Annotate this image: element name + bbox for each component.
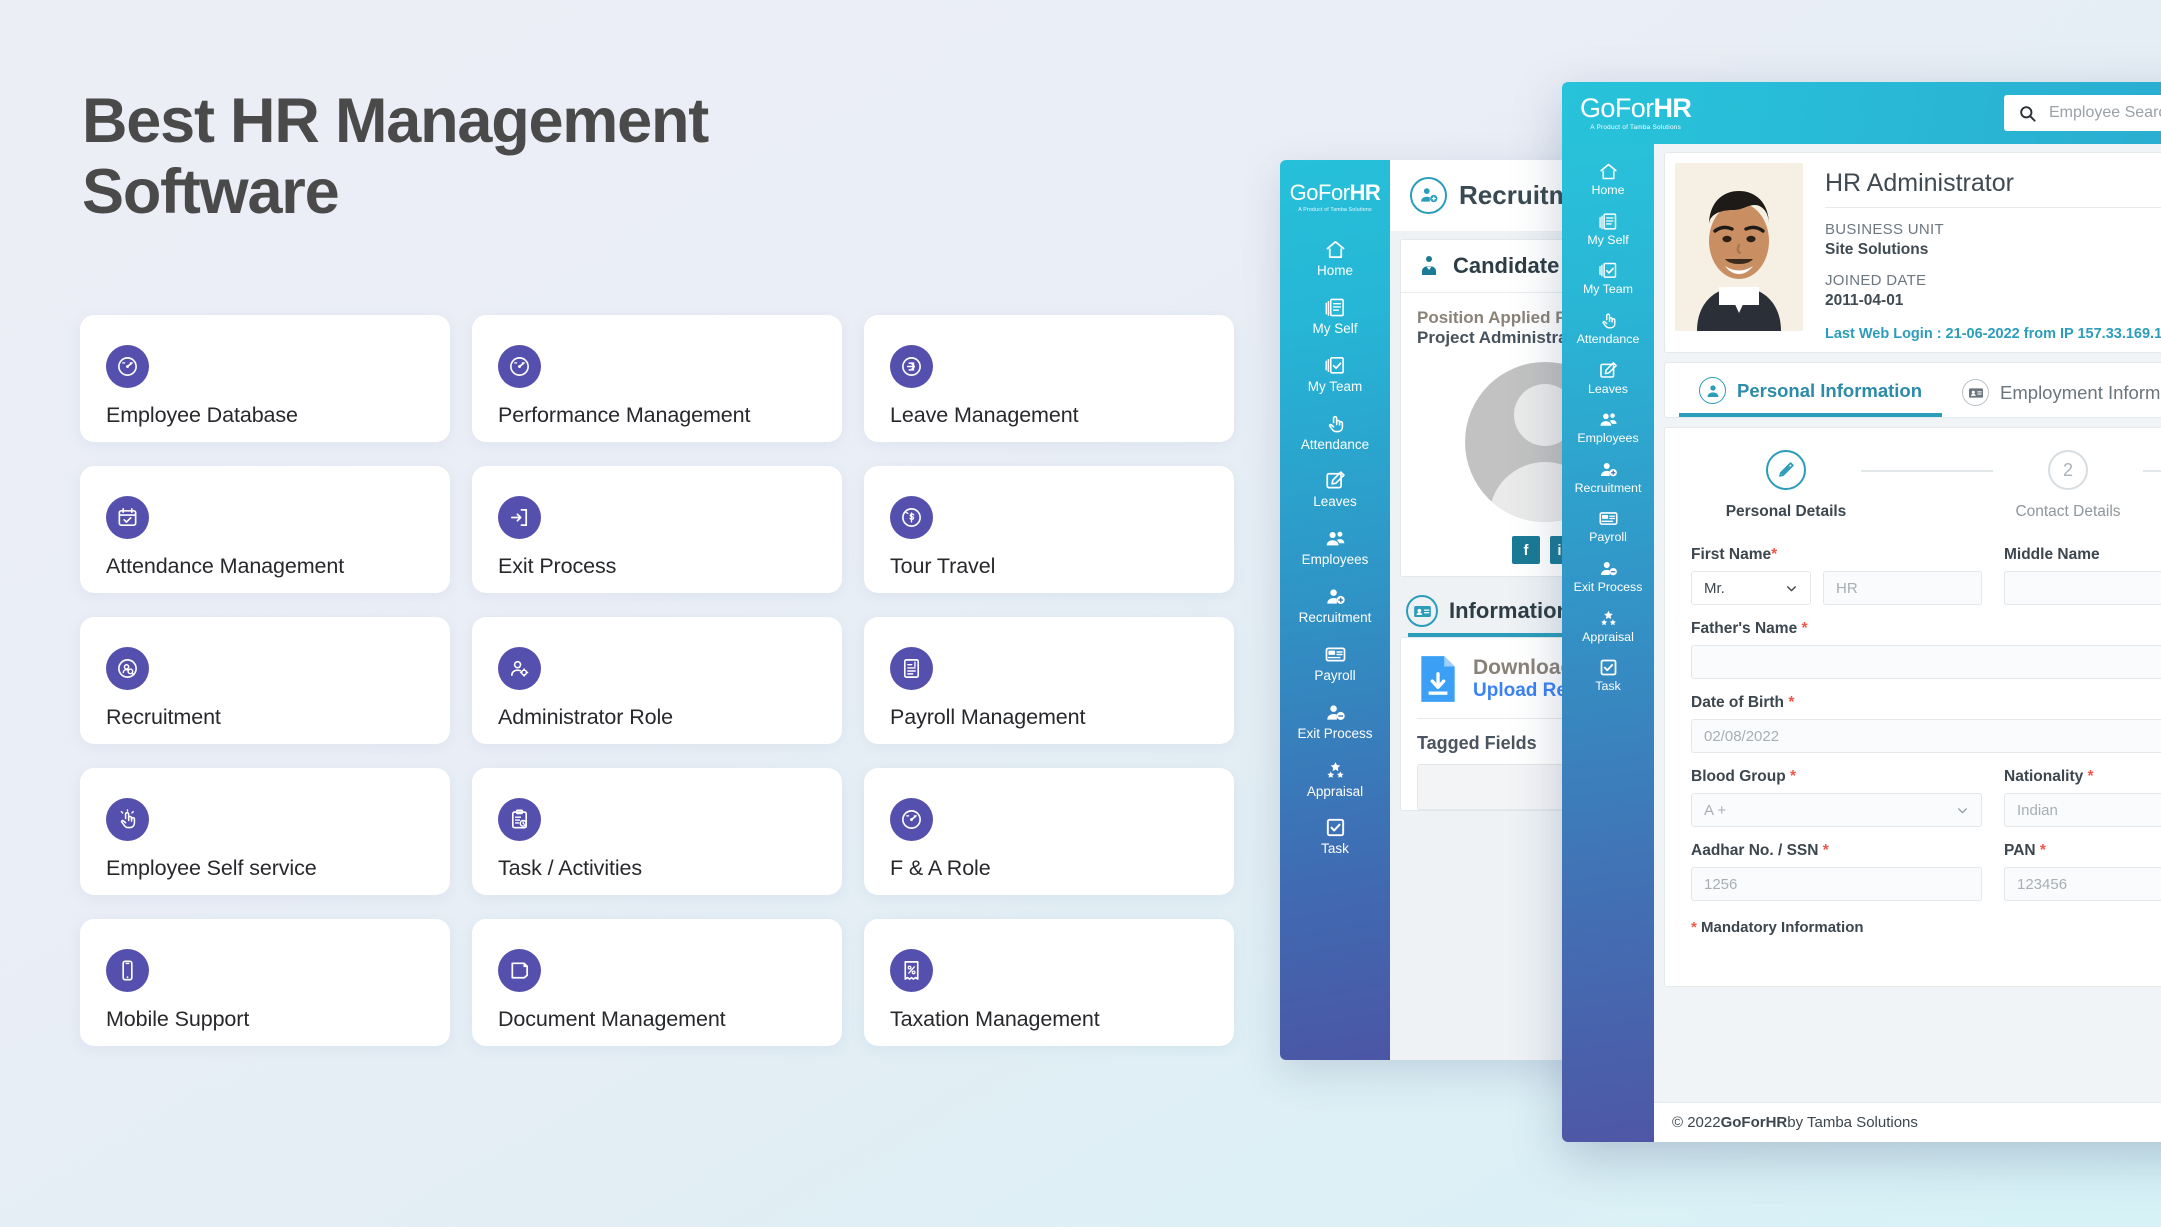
nationality-group: Nationality * Indian: [2004, 768, 2161, 827]
dob-input[interactable]: 02/08/2022: [1691, 719, 2161, 753]
hand-tap-icon: [1598, 310, 1619, 331]
pan-label: PAN *: [2004, 842, 2161, 860]
app-top-bar: GoForHR A Product of Tamba Solutions Emp…: [1562, 82, 2161, 144]
sidebar-item-my-self[interactable]: My Self: [1562, 204, 1654, 254]
sidebar-item-my-team[interactable]: My Team: [1562, 253, 1654, 303]
joined-date-label: JOINED DATE: [1825, 272, 2161, 289]
pan-input[interactable]: 123456: [2004, 867, 2161, 901]
feature-card[interactable]: Employee Self service: [80, 768, 450, 895]
gauge-icon: [900, 808, 923, 831]
aadhar-label: Aadhar No. / SSN *: [1691, 842, 1982, 860]
sidebar-item-label: My Team: [1564, 283, 1652, 297]
sidebar-item-task[interactable]: Task: [1280, 807, 1390, 865]
front-brand-logo: GoForHR A Product of Tamba Solutions: [1580, 95, 1691, 131]
id-card-icon: [1406, 595, 1438, 627]
card-icon: [1324, 643, 1347, 666]
people-icon: [1598, 409, 1619, 430]
first-name-input[interactable]: HR: [1823, 571, 1982, 605]
document-fold-icon: [508, 959, 531, 982]
form-row-ids: Aadhar No. / SSN * 1256 PAN * 123456: [1691, 842, 2161, 901]
aadhar-group: Aadhar No. / SSN * 1256: [1691, 842, 1982, 901]
sidebar-item-label: Appraisal: [1564, 631, 1652, 645]
gauge-icon: [508, 355, 531, 378]
calendar-check-icon: [116, 506, 139, 529]
feature-card-label: Tour Travel: [890, 554, 1208, 579]
dob-value: 02/08/2022: [1704, 728, 1779, 745]
user-plus-icon: [1410, 177, 1447, 214]
blood-group-group: Blood Group * A +: [1691, 768, 1982, 827]
footer-copyright: © 2022: [1672, 1114, 1721, 1131]
feature-card[interactable]: Payroll Management: [864, 617, 1234, 744]
people-icon: [1324, 527, 1347, 550]
nationality-value: Indian: [2017, 802, 2058, 819]
nationality-label: Nationality *: [2004, 768, 2161, 786]
feature-card-icon-wrap: [890, 647, 933, 690]
feature-card-label: Task / Activities: [498, 856, 816, 881]
feature-card[interactable]: Administrator Role: [472, 617, 842, 744]
feature-card[interactable]: Attendance Management: [80, 466, 450, 593]
feature-card-icon-wrap: [498, 647, 541, 690]
gauge-icon: [116, 355, 139, 378]
sidebar-item-my-team[interactable]: My Team: [1280, 345, 1390, 403]
feature-card[interactable]: Taxation Management: [864, 919, 1234, 1046]
feature-card-label: Taxation Management: [890, 1007, 1208, 1032]
middle-name-label: Middle Name: [2004, 546, 2161, 564]
title-select-value: Mr.: [1704, 580, 1725, 597]
feature-card-icon-wrap: [106, 345, 149, 388]
first-name-placeholder: HR: [1836, 580, 1858, 597]
feature-card-icon-wrap: [498, 949, 541, 992]
sidebar-item-label: Payroll: [1564, 531, 1652, 545]
feature-card-icon-wrap: [890, 496, 933, 539]
sidebar-item-employees[interactable]: Employees: [1562, 402, 1654, 452]
blood-group-label: Blood Group *: [1691, 768, 1982, 786]
feature-card[interactable]: Recruitment: [80, 617, 450, 744]
feature-card-label: Exit Process: [498, 554, 816, 579]
user-plus-icon: [1324, 585, 1347, 608]
search-input[interactable]: Employee Search: [2004, 95, 2161, 131]
brand-light: GoFor: [1580, 93, 1654, 123]
pencil-icon: [1766, 450, 1806, 490]
user-minus-icon: [1324, 701, 1347, 724]
tab-employment-information-label: Employment Information: [2000, 382, 2161, 404]
team-check-icon: [1598, 260, 1619, 281]
business-unit-value: Site Solutions: [1825, 241, 2161, 259]
feature-card-icon-wrap: [106, 949, 149, 992]
user-minus-icon: [1598, 558, 1619, 579]
feature-card-label: Employee Database: [106, 403, 424, 428]
profile-details: HR Administrator BUSINESS UNIT Site Solu…: [1825, 163, 2161, 342]
sidebar-item-label: Exit Process: [1564, 581, 1652, 595]
edit-note-icon: [1324, 469, 1347, 492]
user-plus-icon: [1598, 459, 1619, 480]
sidebar-item-label: My Team: [1282, 380, 1388, 395]
step-personal-details-label: Personal Details: [1711, 503, 1861, 521]
feature-card-icon-wrap: [106, 496, 149, 539]
sidebar-item-employees[interactable]: Employees: [1280, 518, 1390, 576]
sidebar-item-recruitment[interactable]: Recruitment: [1280, 576, 1390, 634]
home-icon: [1324, 238, 1347, 261]
hand-tap-icon: [1324, 412, 1347, 435]
profile-name: HR Administrator: [1825, 169, 2161, 208]
feature-card-label: F & A Role: [890, 856, 1208, 881]
step-personal-details[interactable]: Personal Details: [1711, 450, 1861, 521]
mid-sidebar: GoForHR A Product of Tamba Solutions Hom…: [1280, 160, 1390, 1060]
sidebar-item-label: Recruitment: [1564, 482, 1652, 496]
blood-group-select[interactable]: A +: [1691, 793, 1982, 827]
checkbox-icon: [1324, 816, 1347, 839]
feature-card-label: Performance Management: [498, 403, 816, 428]
pan-value: 123456: [2017, 876, 2067, 893]
fathers-name-label: Father's Name *: [1691, 620, 2161, 638]
feature-card-icon-wrap: [498, 798, 541, 841]
sidebar-item-label: Task: [1282, 842, 1388, 857]
documents-icon: [1324, 296, 1347, 319]
sidebar-item-label: Exit Process: [1282, 727, 1388, 742]
middle-name-group: Middle Name: [2004, 546, 2161, 605]
dob-group: Date of Birth * 02/08/2022: [1691, 694, 2161, 753]
personal-details-form: Personal Details 2 Contact Details First…: [1664, 427, 2161, 987]
feature-card-icon-wrap: [106, 798, 149, 841]
feature-card[interactable]: Employee Database: [80, 315, 450, 442]
feature-card-label: Administrator Role: [498, 705, 816, 730]
sidebar-item-label: Recruitment: [1282, 611, 1388, 626]
front-content: HR Administrator BUSINESS UNIT Site Solu…: [1654, 144, 2161, 1142]
stars-icon: [1324, 759, 1347, 782]
sidebar-item-label: Leaves: [1564, 383, 1652, 397]
clipboard-clock-icon: [508, 808, 531, 831]
feature-card[interactable]: Task / Activities: [472, 768, 842, 895]
step-contact-details[interactable]: 2 Contact Details: [1993, 450, 2143, 521]
feature-card-label: Employee Self service: [106, 856, 424, 881]
feature-card[interactable]: Exit Process: [472, 466, 842, 593]
feature-card[interactable]: Tour Travel: [864, 466, 1234, 593]
aadhar-value: 1256: [1704, 876, 1737, 893]
sidebar-item-appraisal[interactable]: Appraisal: [1280, 750, 1390, 808]
edit-note-icon: [1598, 360, 1619, 381]
title-select[interactable]: Mr.: [1691, 571, 1811, 605]
form-row-name: First Name* Mr. HR Middle Name: [1691, 546, 2161, 605]
feature-card-icon-wrap: [890, 345, 933, 388]
home-icon: [1598, 161, 1619, 182]
fathers-name-input[interactable]: [1691, 645, 2161, 679]
nationality-select[interactable]: Indian: [2004, 793, 2161, 827]
brand-tagline: A Product of Tamba Solutions: [1580, 124, 1691, 131]
feature-card-icon-wrap: [498, 345, 541, 388]
download-document-icon: [1417, 654, 1459, 704]
last-web-login: Last Web Login : 21-06-2022 from IP 157.…: [1825, 326, 2161, 342]
id-card-icon: [1962, 379, 1989, 406]
percent-receipt-icon: [900, 959, 923, 982]
sidebar-item-label: Employees: [1564, 432, 1652, 446]
feature-card[interactable]: F & A Role: [864, 768, 1234, 895]
sidebar-item-home[interactable]: Home: [1280, 229, 1390, 287]
feature-card-label: Payroll Management: [890, 705, 1208, 730]
sidebar-item-attendance[interactable]: Attendance: [1562, 303, 1654, 353]
sidebar-item-leaves[interactable]: Leaves: [1562, 353, 1654, 403]
tab-personal-information[interactable]: Personal Information: [1679, 372, 1942, 417]
profile-summary-card: HR Administrator BUSINESS UNIT Site Solu…: [1664, 152, 2161, 353]
footer-brand: GoForHR: [1721, 1114, 1788, 1131]
step-contact-details-label: Contact Details: [1993, 503, 2143, 521]
avatar: [1675, 163, 1803, 331]
team-check-icon: [1324, 354, 1347, 377]
sidebar-item-label: Attendance: [1282, 438, 1388, 453]
feature-card-label: Mobile Support: [106, 1007, 424, 1032]
sidebar-item-task[interactable]: Task: [1562, 650, 1654, 700]
mandatory-note: * Mandatory Information: [1691, 919, 2161, 936]
search-icon: [2018, 104, 2037, 123]
candidate-card-title: Candidate: [1453, 253, 1559, 279]
blood-group-value: A +: [1704, 802, 1726, 819]
chevron-down-icon: [1956, 804, 1969, 817]
form-stepper: Personal Details 2 Contact Details: [1691, 450, 2161, 531]
step-contact-details-number: 2: [2048, 450, 2088, 490]
first-name-label: First Name*: [1691, 546, 1982, 564]
sidebar-item-attendance[interactable]: Attendance: [1280, 403, 1390, 461]
feature-card-icon-wrap: [498, 496, 541, 539]
feature-card[interactable]: Mobile Support: [80, 919, 450, 1046]
feature-card-label: Attendance Management: [106, 554, 424, 579]
sidebar-item-label: My Self: [1564, 234, 1652, 248]
feature-card[interactable]: Leave Management: [864, 315, 1234, 442]
hand-click-icon: [116, 808, 139, 831]
sidebar-item-label: Leaves: [1282, 495, 1388, 510]
logout-arrow-icon: [900, 355, 923, 378]
sidebar-item-label: Employees: [1282, 553, 1388, 568]
documents-icon: [1598, 211, 1619, 232]
information-tab-label: Information: [1449, 598, 1570, 624]
stepper-connector: [2143, 470, 2161, 472]
exit-door-icon: [508, 506, 531, 529]
sidebar-item-label: Home: [1564, 184, 1652, 198]
feature-card[interactable]: Performance Management: [472, 315, 842, 442]
business-unit-label: BUSINESS UNIT: [1825, 221, 2161, 238]
sidebar-item-appraisal[interactable]: Appraisal: [1562, 601, 1654, 651]
feature-card-icon-wrap: [890, 798, 933, 841]
sidebar-item-recruitment[interactable]: Recruitment: [1562, 452, 1654, 502]
middle-name-input[interactable]: [2004, 571, 2161, 605]
checkbox-icon: [1598, 657, 1619, 678]
brand-light: GoFor: [1290, 180, 1350, 205]
aadhar-input[interactable]: 1256: [1691, 867, 1982, 901]
sidebar-item-payroll[interactable]: Payroll: [1562, 501, 1654, 551]
form-row-dob: Date of Birth * 02/08/2022: [1691, 694, 2161, 753]
tab-employment-information[interactable]: Employment Information: [1942, 374, 2161, 415]
page-title: Best HR Management Software: [82, 86, 1082, 228]
brand-bold: HR: [1350, 180, 1381, 205]
employee-profile-app-panel: GoForHR A Product of Tamba Solutions Emp…: [1562, 82, 2161, 1142]
sidebar-item-leaves[interactable]: Leaves: [1280, 460, 1390, 518]
dob-label: Date of Birth *: [1691, 694, 2161, 712]
search-placeholder: Employee Search: [2049, 104, 2161, 122]
sidebar-item-label: Payroll: [1282, 669, 1388, 684]
footer-by: by Tamba Solutions: [1787, 1114, 1918, 1131]
feature-card-grid: Employee DatabasePerformance ManagementL…: [80, 315, 1240, 1046]
sidebar-item-my-self[interactable]: My Self: [1280, 287, 1390, 345]
brand-tagline: A Product of Tamba Solutions: [1280, 207, 1390, 213]
sidebar-item-label: Task: [1564, 680, 1652, 694]
tab-personal-information-label: Personal Information: [1737, 380, 1922, 402]
sidebar-item-label: Appraisal: [1282, 785, 1388, 800]
feature-card-label: Document Management: [498, 1007, 816, 1032]
page-title-line2: Software: [82, 157, 1082, 228]
sidebar-item-payroll[interactable]: Payroll: [1280, 634, 1390, 692]
sidebar-item-home[interactable]: Home: [1562, 154, 1654, 204]
user-search-icon: [116, 657, 139, 680]
hero-section: Best HR Management Software: [82, 86, 1082, 228]
candidate-icon: [1417, 254, 1441, 278]
stars-icon: [1598, 608, 1619, 629]
sidebar-item-exit-process[interactable]: Exit Process: [1280, 692, 1390, 750]
feature-card-icon-wrap: [890, 949, 933, 992]
chevron-down-icon: [1785, 582, 1798, 595]
joined-date-value: 2011-04-01: [1825, 292, 2161, 310]
profile-tabs: Personal Information Employment Informat…: [1664, 362, 2161, 418]
person-icon: [1699, 377, 1726, 404]
sidebar-item-label: Attendance: [1564, 333, 1652, 347]
stepper-connector: [1861, 470, 1993, 472]
feature-card-label: Recruitment: [106, 705, 424, 730]
sidebar-item-exit-process[interactable]: Exit Process: [1562, 551, 1654, 601]
sidebar-item-label: My Self: [1282, 322, 1388, 337]
payslip-icon: [900, 657, 923, 680]
sidebar-item-label: Home: [1282, 264, 1388, 279]
user-gear-icon: [508, 657, 531, 680]
front-sidebar: HomeMy SelfMy TeamAttendanceLeavesEmploy…: [1562, 144, 1654, 1142]
brand-bold: HR: [1654, 93, 1692, 123]
travel-money-icon: [900, 506, 923, 529]
fathers-name-group: Father's Name *: [1691, 620, 2161, 679]
mid-brand-logo: GoForHR A Product of Tamba Solutions: [1280, 174, 1390, 229]
form-row-father: Father's Name *: [1691, 620, 2161, 679]
facebook-icon[interactable]: f: [1512, 536, 1540, 564]
page-title-line1: Best HR Management: [82, 86, 1082, 157]
feature-card-label: Leave Management: [890, 403, 1208, 428]
first-name-group: First Name* Mr. HR: [1691, 546, 1982, 605]
pan-group: PAN * 123456: [2004, 842, 2161, 901]
card-icon: [1598, 508, 1619, 529]
mobile-phone-icon: [116, 959, 139, 982]
form-row-blood-nationality: Blood Group * A + Nationality * Indian: [1691, 768, 2161, 827]
feature-card[interactable]: Document Management: [472, 919, 842, 1046]
feature-card-icon-wrap: [106, 647, 149, 690]
app-footer: © 2022 GoForHR by Tamba Solutions: [1654, 1102, 2161, 1142]
